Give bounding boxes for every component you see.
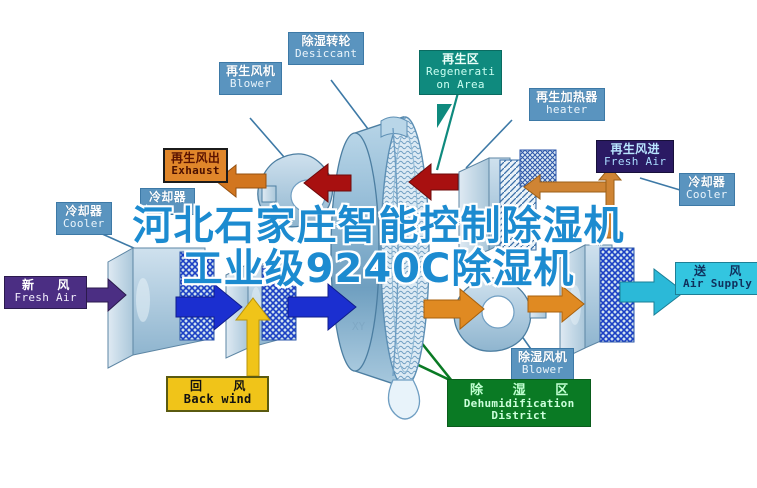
label-fresh-air-en: Fresh Air <box>12 292 79 304</box>
label-exhaust[interactable]: 再生风出 Exhaust <box>163 148 228 183</box>
diagram-canvas: XY <box>0 0 757 488</box>
label-exhaust-en: Exhaust <box>171 165 220 177</box>
label-dehumidification-blower[interactable]: 除湿风机 Blower <box>511 348 574 381</box>
label-air-supply-en: Air Supply <box>683 278 752 290</box>
label-regeneration-heater-en: heater <box>536 104 598 116</box>
label-cooler-right-en: Cooler <box>686 189 728 201</box>
label-cooler-left-secondary[interactable]: 冷却器 <box>140 188 195 215</box>
arrow-regen-in <box>524 175 612 199</box>
svg-text:XY: XY <box>352 320 366 333</box>
label-dehumidification-district[interactable]: 除 湿 区 Dehumidification District <box>447 379 591 427</box>
label-desiccant-rotor-cn: 除湿转轮 <box>295 35 357 48</box>
label-desiccant-rotor[interactable]: 除湿转轮 Desiccant <box>288 32 364 65</box>
dehumidifier-schematic: XY <box>0 0 757 488</box>
label-exhaust-cn: 再生风出 <box>171 152 220 165</box>
label-air-supply-cn: 送 风 <box>683 265 752 278</box>
label-regeneration-blower-cn: 再生风机 <box>226 65 275 78</box>
label-cooler-right[interactable]: 冷却器 Cooler <box>679 173 735 206</box>
label-cooler-right-cn: 冷却器 <box>686 176 728 189</box>
label-back-wind-cn: 回 风 <box>176 380 259 393</box>
label-dehumidification-district-en2: District <box>457 410 581 422</box>
label-regeneration-heater-cn: 再生加热器 <box>536 91 598 104</box>
label-regeneration-area-en1: Regenerati <box>426 66 495 78</box>
label-regeneration-area-cn: 再生区 <box>426 53 495 66</box>
label-dehumidification-blower-cn: 除湿风机 <box>518 351 567 364</box>
label-dehumidification-district-cn: 除 湿 区 <box>457 383 581 398</box>
label-regeneration-heater[interactable]: 再生加热器 heater <box>529 88 605 121</box>
label-dehumidification-blower-en: Blower <box>518 364 567 376</box>
label-cooler-left-cn: 冷却器 <box>63 205 105 218</box>
label-back-wind[interactable]: 回 风 Back wind <box>166 376 269 412</box>
label-cooler-left-en: Cooler <box>63 218 105 230</box>
label-desiccant-rotor-en: Desiccant <box>295 48 357 60</box>
label-regeneration-blower[interactable]: 再生风机 Blower <box>219 62 282 95</box>
desiccant-rotor: XY <box>331 117 429 419</box>
arrow-regen-up <box>599 167 621 238</box>
label-fresh-air-cn: 新 风 <box>12 279 79 292</box>
label-dehumidification-district-en1: Dehumidification <box>457 398 581 410</box>
label-regeneration-area[interactable]: 再生区 Regenerati on Area <box>419 50 502 95</box>
label-fresh-air[interactable]: 新 风 Fresh Air <box>4 276 87 309</box>
label-cooler-left-secondary-cn: 冷却器 <box>149 191 186 204</box>
label-regeneration-fresh-air-cn: 再生风进 <box>604 143 666 156</box>
label-back-wind-en: Back wind <box>176 393 259 406</box>
label-regeneration-fresh-air-en: Fresh Air <box>604 156 666 168</box>
label-cooler-left[interactable]: 冷却器 Cooler <box>56 202 112 235</box>
label-regeneration-fresh-air[interactable]: 再生风进 Fresh Air <box>596 140 674 173</box>
label-regeneration-area-en2: on Area <box>426 79 495 91</box>
label-regeneration-blower-en: Blower <box>226 78 275 90</box>
label-air-supply[interactable]: 送 风 Air Supply <box>675 262 757 295</box>
